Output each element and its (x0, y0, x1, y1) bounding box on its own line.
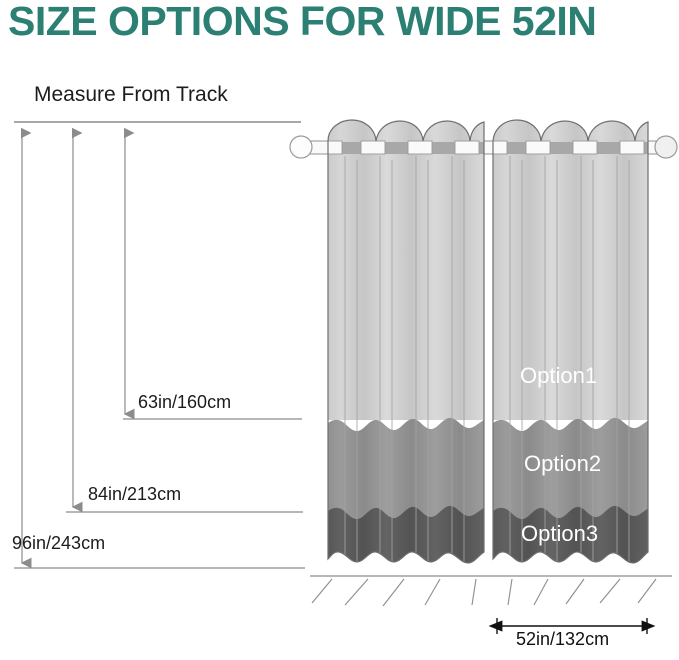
rod-finial-left (290, 136, 312, 158)
dimension-label-52in: 52in/132cm (516, 629, 609, 650)
dimension-label-84in: 84in/213cm (88, 484, 181, 505)
option2-label: Option2 (524, 451, 601, 477)
rod-finial-right (655, 136, 677, 158)
dimension-label-96in: 96in/243cm (12, 533, 105, 554)
option3-label: Option3 (521, 521, 598, 547)
curtain-panel-left (320, 110, 495, 600)
floor (310, 576, 672, 606)
diagram-graphics (0, 0, 679, 660)
option1-label: Option1 (520, 363, 597, 389)
dimension-label-63in: 63in/160cm (138, 392, 231, 413)
floor-hatching (312, 579, 656, 606)
size-options-diagram: SIZE OPTIONS FOR WIDE 52IN Measure From … (0, 0, 679, 660)
